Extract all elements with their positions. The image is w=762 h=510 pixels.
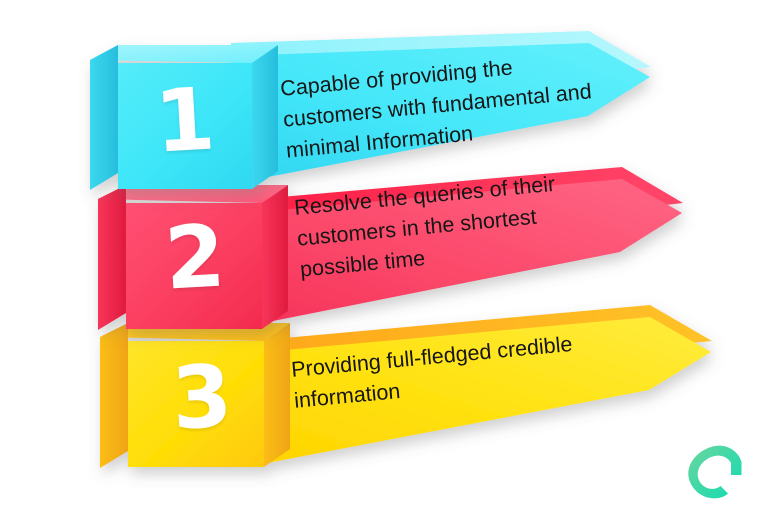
cube-one-number: 1 [153, 76, 218, 165]
cube-two-number: 2 [163, 213, 228, 302]
cube-two-right-face [262, 185, 288, 329]
diagram-stage: 1 2 3 Capable of providing the customers… [0, 0, 762, 510]
brand-logo-icon [688, 446, 741, 499]
cube-two-left-face [98, 185, 126, 330]
cube-one-left-face [90, 45, 118, 190]
infographic-canvas: 1 2 3 Capable of providing the customers… [0, 0, 762, 510]
brand-logo[interactable] [686, 444, 748, 502]
cube-one-right-face [252, 45, 278, 189]
cube-one-top-face [90, 45, 278, 63]
cube-three-number: 3 [170, 353, 235, 442]
cube-three-left-face [100, 323, 128, 468]
cube-three-right-face [264, 323, 290, 467]
